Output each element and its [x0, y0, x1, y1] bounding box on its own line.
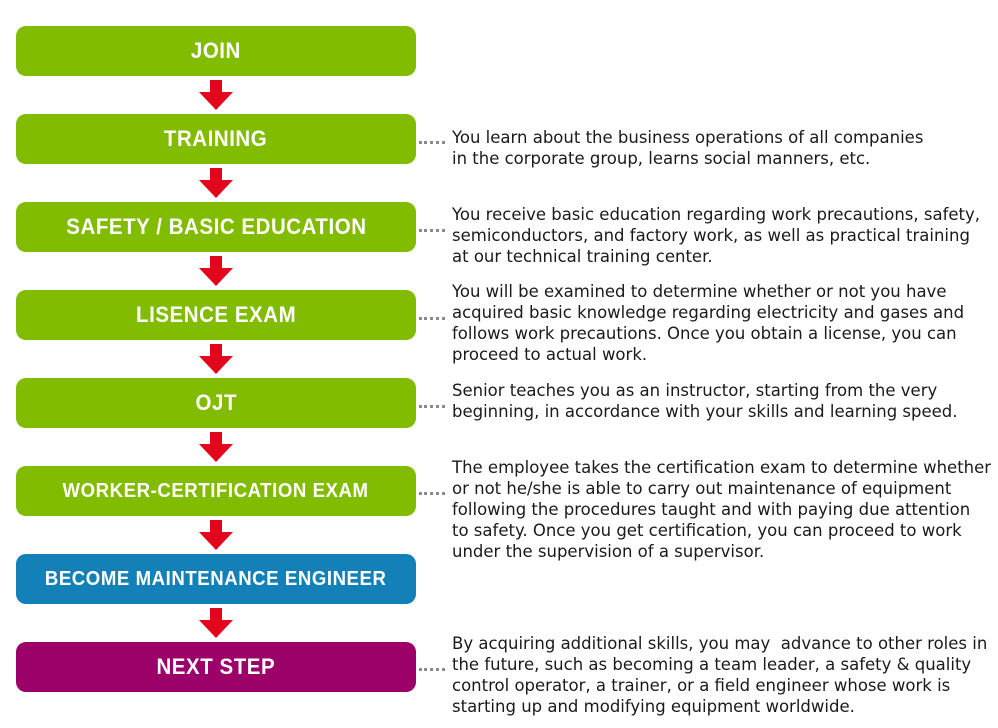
description-line: semiconductors, and factory work, as wel…: [452, 225, 992, 246]
description-safety-basic-education: You receive basic education regarding wo…: [452, 204, 992, 267]
description-line: follows work precautions. Once you obtai…: [452, 323, 992, 344]
arrow-gap-6: [16, 516, 416, 554]
step-row-training: TRAINING: [16, 114, 416, 164]
arrow-down-icon: [199, 520, 233, 550]
description-line: following the procedures taught and with…: [452, 499, 997, 520]
description-line: starting up and modifying equipment worl…: [452, 696, 997, 717]
arrow-down-icon: [199, 432, 233, 462]
description-line: The employee takes the certification exa…: [452, 457, 997, 478]
arrow-gap-2: [16, 164, 416, 202]
leader-line-worker-certification-exam: [419, 492, 445, 495]
arrow-gap-7: [16, 604, 416, 642]
arrow-down-icon: [199, 168, 233, 198]
description-line: or not he/she is able to carry out maint…: [452, 478, 997, 499]
step-row-next-step: NEXT STEP: [16, 642, 416, 692]
arrow-gap-3: [16, 252, 416, 290]
description-ojt: Senior teaches you as an instructor, sta…: [452, 380, 992, 422]
description-line: under the supervision of a supervisor.: [452, 541, 997, 562]
arrow-gap-1: [16, 76, 416, 114]
leader-line-training: [419, 141, 445, 144]
step-box-lisence-exam[interactable]: LISENCE EXAM: [16, 290, 416, 340]
step-box-worker-certification-exam[interactable]: WORKER-CERTIFICATION EXAM: [16, 466, 416, 516]
description-line: to safety. Once you get certification, y…: [452, 520, 997, 541]
step-row-worker-certification-exam: WORKER-CERTIFICATION EXAM: [16, 466, 416, 516]
description-line: acquired basic knowledge regarding elect…: [452, 302, 992, 323]
step-label-join: JOIN: [191, 40, 241, 62]
step-row-become-maintenance-engineer: BECOME MAINTENANCE ENGINEER: [16, 554, 416, 604]
step-box-join[interactable]: JOIN: [16, 26, 416, 76]
step-label-become-maintenance-engineer: BECOME MAINTENANCE ENGINEER: [45, 569, 387, 589]
description-line: You receive basic education regarding wo…: [452, 204, 992, 225]
leader-line-ojt: [419, 405, 445, 408]
steps-column: JOIN TRAINING SAFETY / BASIC EDUCATION: [16, 26, 416, 692]
description-line: You will be examined to determine whethe…: [452, 281, 992, 302]
step-row-safety-basic-education: SAFETY / BASIC EDUCATION: [16, 202, 416, 252]
arrow-down-icon: [199, 608, 233, 638]
step-label-lisence-exam: LISENCE EXAM: [136, 304, 296, 326]
step-label-next-step: NEXT STEP: [157, 656, 276, 678]
description-line: proceed to actual work.: [452, 344, 992, 365]
description-worker-certification-exam: The employee takes the certification exa…: [452, 457, 997, 562]
description-line: control operator, a trainer, or a field …: [452, 675, 997, 696]
description-line: at our technical training center.: [452, 246, 992, 267]
description-training: You learn about the business operations …: [452, 127, 992, 169]
arrow-gap-4: [16, 340, 416, 378]
step-box-safety-basic-education[interactable]: SAFETY / BASIC EDUCATION: [16, 202, 416, 252]
step-label-safety-basic-education: SAFETY / BASIC EDUCATION: [66, 216, 366, 238]
description-line: the future, such as becoming a team lead…: [452, 654, 997, 675]
step-label-training: TRAINING: [164, 128, 267, 150]
step-box-training[interactable]: TRAINING: [16, 114, 416, 164]
leader-line-lisence-exam: [419, 317, 445, 320]
arrow-down-icon: [199, 344, 233, 374]
description-line: By acquiring additional skills, you may …: [452, 633, 997, 654]
step-label-ojt: OJT: [195, 392, 236, 414]
step-row-join: JOIN: [16, 26, 416, 76]
description-line: in the corporate group, learns social ma…: [452, 148, 992, 169]
step-label-worker-certification-exam: WORKER-CERTIFICATION EXAM: [63, 481, 369, 501]
step-box-ojt[interactable]: OJT: [16, 378, 416, 428]
step-box-next-step[interactable]: NEXT STEP: [16, 642, 416, 692]
career-path-flowchart: JOIN TRAINING SAFETY / BASIC EDUCATION: [0, 0, 998, 728]
description-next-step: By acquiring additional skills, you may …: [452, 633, 997, 717]
step-row-lisence-exam: LISENCE EXAM: [16, 290, 416, 340]
description-line: Senior teaches you as an instructor, sta…: [452, 380, 992, 401]
description-line: beginning, in accordance with your skill…: [452, 401, 992, 422]
arrow-gap-5: [16, 428, 416, 466]
step-box-become-maintenance-engineer[interactable]: BECOME MAINTENANCE ENGINEER: [16, 554, 416, 604]
arrow-down-icon: [199, 80, 233, 110]
leader-line-safety-basic-education: [419, 229, 445, 232]
arrow-down-icon: [199, 256, 233, 286]
step-row-ojt: OJT: [16, 378, 416, 428]
description-lisence-exam: You will be examined to determine whethe…: [452, 281, 992, 365]
leader-line-next-step: [419, 668, 445, 671]
description-line: You learn about the business operations …: [452, 127, 992, 148]
